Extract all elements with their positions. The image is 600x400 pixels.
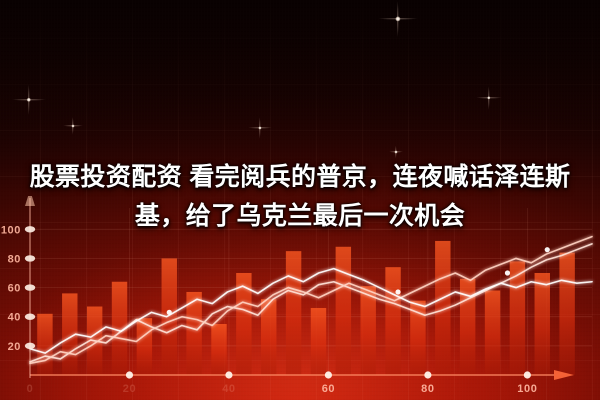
x-axis-label: 0 xyxy=(27,383,34,395)
y-axis-label: 60 xyxy=(8,283,21,295)
image-canvas: 20406080100020406080100 股票投资配资 看完阅兵的普京，连… xyxy=(0,0,600,400)
x-axis-label: 80 xyxy=(421,383,434,395)
y-axis-label: 80 xyxy=(8,253,21,265)
x-axis-label: 60 xyxy=(322,383,335,395)
x-axis-label: 100 xyxy=(517,383,537,395)
x-axis-label: 20 xyxy=(123,383,136,395)
x-axis-label: 40 xyxy=(222,383,235,395)
chart-bars xyxy=(37,241,575,375)
headline-text: 股票投资配资 看完阅兵的普京，连夜喊话泽连斯 基，给了乌克兰最后一次机会 xyxy=(0,158,600,236)
y-axis-label: 40 xyxy=(8,312,21,324)
y-axis-label: 20 xyxy=(8,341,21,353)
